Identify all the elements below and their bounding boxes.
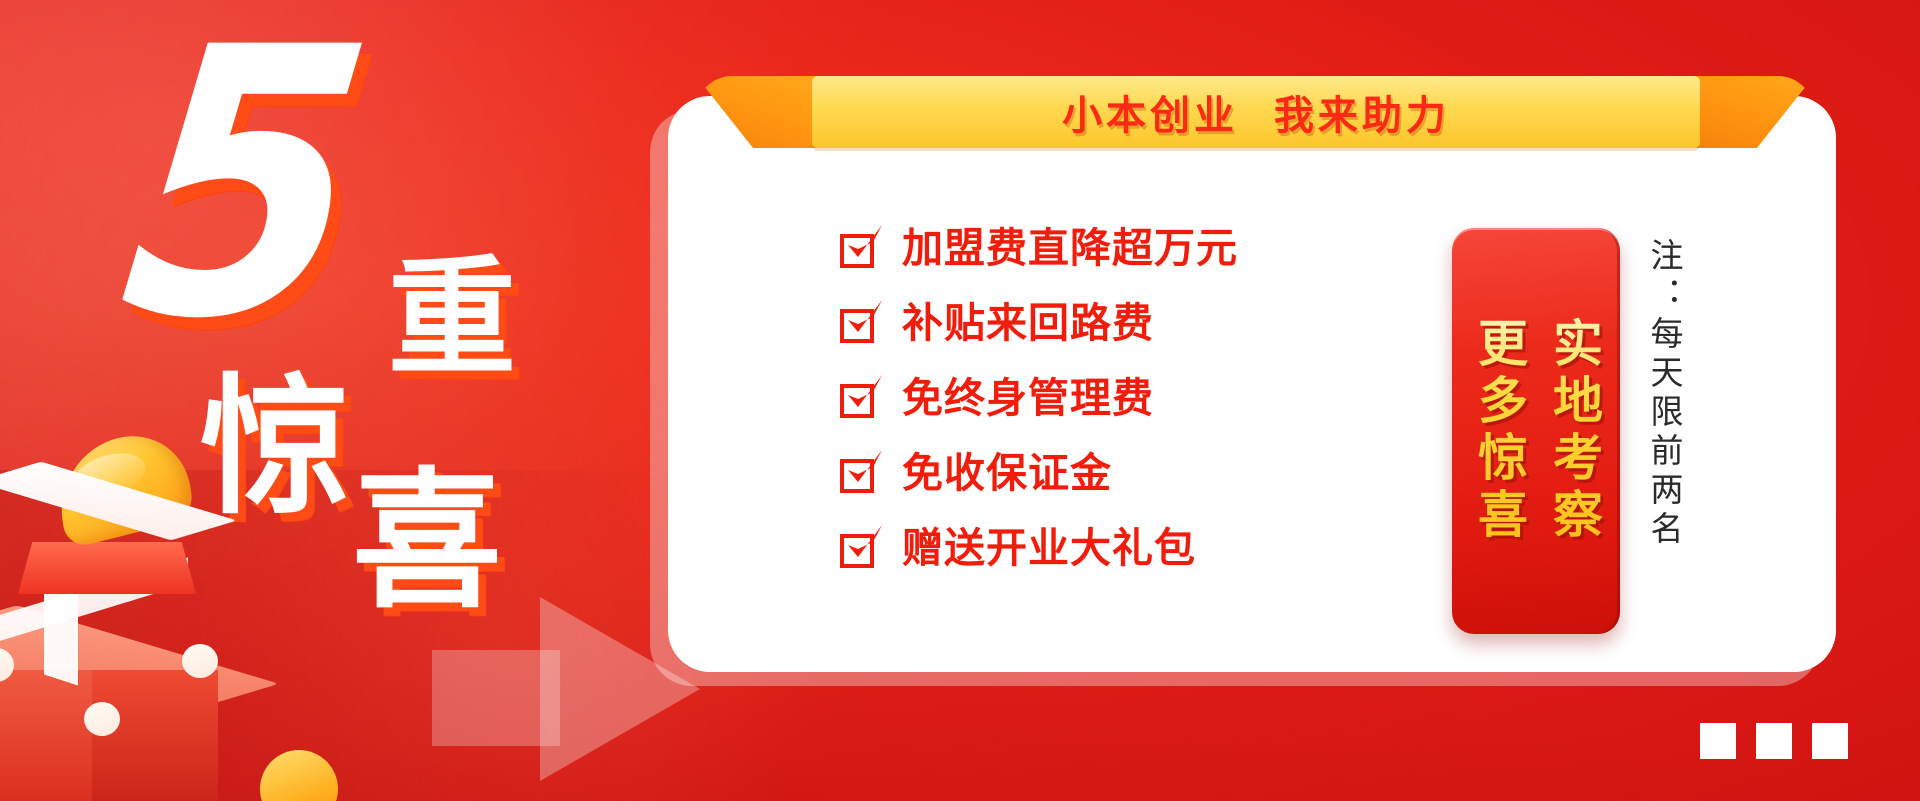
pagination-dot[interactable] — [1700, 723, 1736, 759]
cta-text-column-right: 实地考察 — [1543, 317, 1604, 545]
feature-item: 免终身管理费 — [840, 378, 1400, 419]
feature-label: 补贴来回路费 — [902, 303, 1154, 344]
feature-item: 赠送开业大礼包 — [840, 528, 1400, 569]
feature-item: 加盟费直降超万元 — [840, 228, 1400, 269]
pagination-dot[interactable] — [1812, 723, 1848, 759]
headline-number: 5 — [112, 22, 374, 347]
feature-label: 免终身管理费 — [902, 378, 1154, 419]
feature-item: 免收保证金 — [840, 453, 1400, 494]
gift-box-right-face — [92, 670, 218, 801]
gift-dot — [182, 644, 218, 678]
note-text: 注：每天限前两名 — [1648, 238, 1681, 628]
checkbox-checked-icon — [840, 379, 880, 419]
checkbox-checked-icon — [840, 304, 880, 344]
gift-box-left-face — [0, 670, 92, 801]
gift-dot — [84, 702, 120, 736]
checkbox-checked-icon — [840, 454, 880, 494]
cta-button[interactable]: 实地考察 更多惊喜 — [1452, 228, 1620, 634]
promo-banner: 5 重 惊 喜 小本创业 我来助力 — [0, 0, 1920, 801]
checkbox-checked-icon — [840, 229, 880, 269]
headline-char-xi: 喜 — [352, 467, 502, 617]
gift-box-illustration — [0, 420, 322, 800]
feature-label: 加盟费直降超万元 — [902, 228, 1238, 269]
feature-list: 加盟费直降超万元 补贴来回路费 免终身管理费 — [840, 228, 1400, 569]
headline-char-zhong: 重 — [388, 255, 516, 383]
ribbon-fold-right-icon — [1690, 76, 1814, 148]
feature-item: 补贴来回路费 — [840, 303, 1400, 344]
ribbon-title: 小本创业 我来助力 — [812, 76, 1700, 148]
gift-lid-side — [18, 542, 196, 594]
pagination-indicator[interactable] — [1700, 723, 1848, 759]
feature-label: 赠送开业大礼包 — [902, 528, 1196, 569]
checkbox-checked-icon — [840, 529, 880, 569]
ribbon-fold-left-icon — [696, 76, 820, 148]
ribbon-header: 小本创业 我来助力 — [690, 76, 1820, 148]
feature-label: 免收保证金 — [902, 453, 1112, 494]
pagination-dot[interactable] — [1756, 723, 1792, 759]
gift-ribbon-vertical — [44, 582, 78, 685]
cta-text-column-left: 更多惊喜 — [1468, 317, 1529, 545]
